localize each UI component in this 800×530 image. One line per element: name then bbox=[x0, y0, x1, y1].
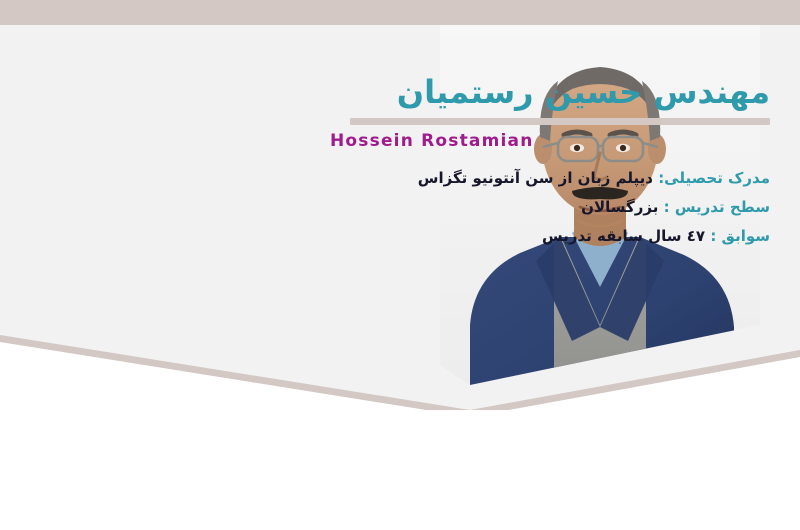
detail-value-education: دیپلم زبان از سن آنتونیو تگزاس bbox=[418, 169, 653, 187]
name-latin: Hossein Rostamian bbox=[330, 131, 770, 151]
detail-row-teaching-level: سطح تدریس : بزرگسالان bbox=[330, 200, 770, 215]
top-accent-band bbox=[0, 0, 800, 25]
detail-value-experience: ٤٧ سال سابقه تدریس bbox=[542, 227, 705, 245]
footer-bar: OFOGH Ofogh English Institutes bbox=[0, 410, 800, 530]
title-divider bbox=[350, 118, 770, 125]
detail-label-experience: سوابق : bbox=[710, 227, 770, 245]
detail-row-experience: سوابق : ٤٧ سال سابقه تدریس bbox=[330, 229, 770, 244]
profile-text-block: مهندس حسین رستمیان Hossein Rostamian مدر… bbox=[330, 72, 770, 258]
detail-value-teaching-level: بزرگسالان bbox=[581, 198, 658, 216]
profile-card: مهندس حسین رستمیان Hossein Rostamian مدر… bbox=[0, 0, 800, 530]
detail-label-education: مدرک تحصیلی: bbox=[658, 169, 770, 187]
detail-row-education: مدرک تحصیلی: دیپلم زبان از سن آنتونیو تگ… bbox=[330, 171, 770, 186]
page-title: مهندس حسین رستمیان bbox=[330, 72, 770, 112]
detail-label-teaching-level: سطح تدریس : bbox=[664, 198, 770, 216]
